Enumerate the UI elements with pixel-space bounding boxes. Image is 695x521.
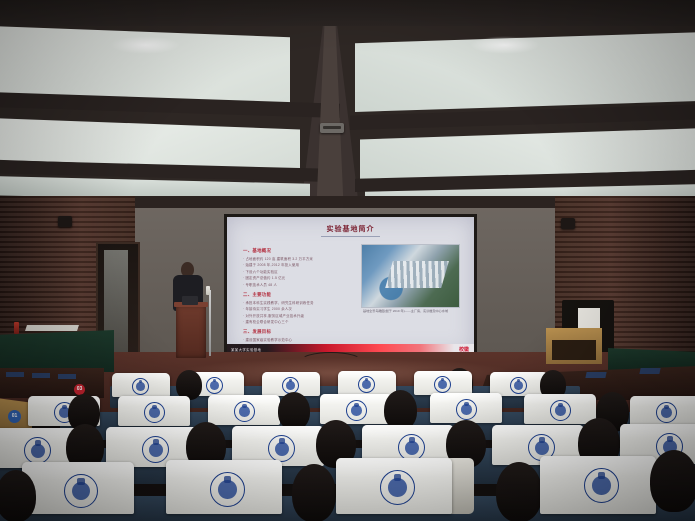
slide-section-heading: 一、基地概况 — [243, 248, 338, 254]
university-emblem-icon — [550, 400, 571, 421]
slide-bullet-line: · 建设国家级实验教学示范中心 — [243, 337, 338, 342]
slide-aerial-photo — [361, 244, 460, 308]
ceiling-top-shadow — [0, 0, 695, 26]
university-emblem-icon — [24, 437, 51, 464]
slide-bullet-line: · 占地面积约 120 亩,建筑面积 3.2 万平方米 — [243, 256, 338, 261]
slide-bullet-line: · 下设六个功能实验区 — [243, 269, 338, 274]
podium — [176, 305, 206, 358]
chair-cover[interactable] — [338, 371, 396, 395]
slide-bullet-column: 一、基地概况 · 占地面积约 120 亩,建筑面积 3.2 万平方米 · 始建于… — [243, 243, 338, 349]
seat-number-marker: 01 — [8, 410, 21, 423]
chair-cover[interactable] — [320, 394, 392, 424]
chair-cover[interactable] — [208, 395, 280, 425]
chair-cover[interactable] — [524, 394, 596, 424]
university-emblem-icon — [584, 468, 619, 503]
slide-bullet-line: · 年接待实习学生 2000 余人次 — [243, 306, 338, 311]
university-emblem-icon — [456, 399, 477, 420]
desk-paper — [32, 373, 50, 378]
university-emblem-icon — [210, 472, 245, 507]
slide-bullet-line: · 建有校企联合研发中心三个 — [243, 319, 338, 324]
audience-head — [278, 392, 310, 430]
university-emblem-icon — [132, 378, 149, 395]
ceiling-light-glow — [110, 36, 180, 54]
university-emblem-icon — [144, 402, 165, 423]
slide-bullet-line: · 承担本科生实践教学、研究生科研训练任务 — [243, 300, 338, 305]
university-emblem-icon — [206, 377, 223, 394]
microphone-stand — [209, 290, 211, 356]
university-emblem-icon — [398, 434, 425, 461]
photo-building-roofs — [385, 261, 449, 288]
lecture-hall-photo: 实验基地简介 一、基地概况 · 占地面积约 120 亩,建筑面积 3.2 万平方… — [0, 0, 695, 521]
slide-bullet-line: · 始建于 2008 年,2012 年投入使用 — [243, 262, 338, 267]
chair-cover[interactable] — [430, 393, 502, 423]
desk-paper — [58, 374, 76, 379]
desk-paper — [639, 368, 660, 374]
ceiling — [0, 0, 695, 215]
university-emblem-icon — [358, 376, 375, 393]
university-emblem-icon — [234, 401, 255, 422]
audience-head — [496, 462, 542, 521]
green-skirted-head-table — [0, 330, 114, 372]
chair-cover[interactable] — [414, 371, 472, 395]
slide-footer-text: 某某大学实验基地 — [231, 347, 261, 352]
audience-head — [292, 464, 336, 521]
wall-speaker-icon — [58, 216, 72, 227]
slide-title-underline — [321, 236, 380, 237]
chair-cover[interactable] — [112, 373, 170, 397]
presenter-laptop[interactable] — [182, 296, 198, 305]
chair-cover[interactable] — [118, 396, 190, 426]
red-bottle — [14, 322, 19, 334]
floor-cable — [300, 352, 362, 370]
chair-cover[interactable] — [540, 456, 656, 514]
audience-head — [0, 470, 36, 521]
projection-screen: 实验基地简介 一、基地概况 · 占地面积约 120 亩,建筑面积 3.2 万平方… — [224, 214, 477, 358]
university-emblem-icon — [268, 435, 295, 462]
presentation-slide: 实验基地简介 一、基地概况 · 占地面积约 120 亩,建筑面积 3.2 万平方… — [227, 217, 474, 355]
slide-title: 实验基地简介 — [227, 224, 474, 234]
audience-head — [650, 450, 695, 512]
table-documents — [25, 325, 79, 331]
university-emblem-icon — [434, 376, 451, 393]
wall-speaker-icon — [561, 218, 575, 229]
ceiling-projector — [320, 123, 344, 133]
back-wall-trim — [120, 196, 580, 208]
chair-cover[interactable] — [166, 460, 282, 514]
slide-bullet-line: · 专职技术人员 48 人 — [243, 282, 338, 287]
university-emblem-icon — [380, 470, 415, 505]
chair-cover[interactable] — [336, 458, 452, 514]
university-emblem-icon — [142, 436, 169, 463]
university-emblem-icon — [346, 400, 367, 421]
slide-bullet-line: · 对外开放共享,服务区域产业技术升级 — [243, 313, 338, 318]
desk-paper — [585, 372, 606, 378]
audience-head — [384, 390, 417, 430]
slide-photo-caption: 基地全景鸟瞰图(摄于 2019 年)——主厂房、实训楼及中心水域 — [363, 309, 460, 314]
ceiling-light-glow — [470, 36, 540, 54]
cabinet-shelf-opening — [552, 340, 596, 360]
slide-section-heading: 三、发展目标 — [243, 329, 338, 335]
water-bottle — [206, 286, 210, 295]
university-emblem-icon — [64, 474, 98, 508]
university-emblem-icon — [656, 402, 677, 423]
slide-bullet-line: · 固定资产总值约 1.5 亿元 — [243, 275, 338, 280]
chair-cover[interactable] — [630, 396, 695, 426]
desk-paper — [6, 372, 24, 377]
university-emblem-icon — [510, 377, 527, 394]
slide-section-heading: 二、主要功能 — [243, 292, 338, 298]
chair-cover[interactable] — [22, 462, 134, 514]
